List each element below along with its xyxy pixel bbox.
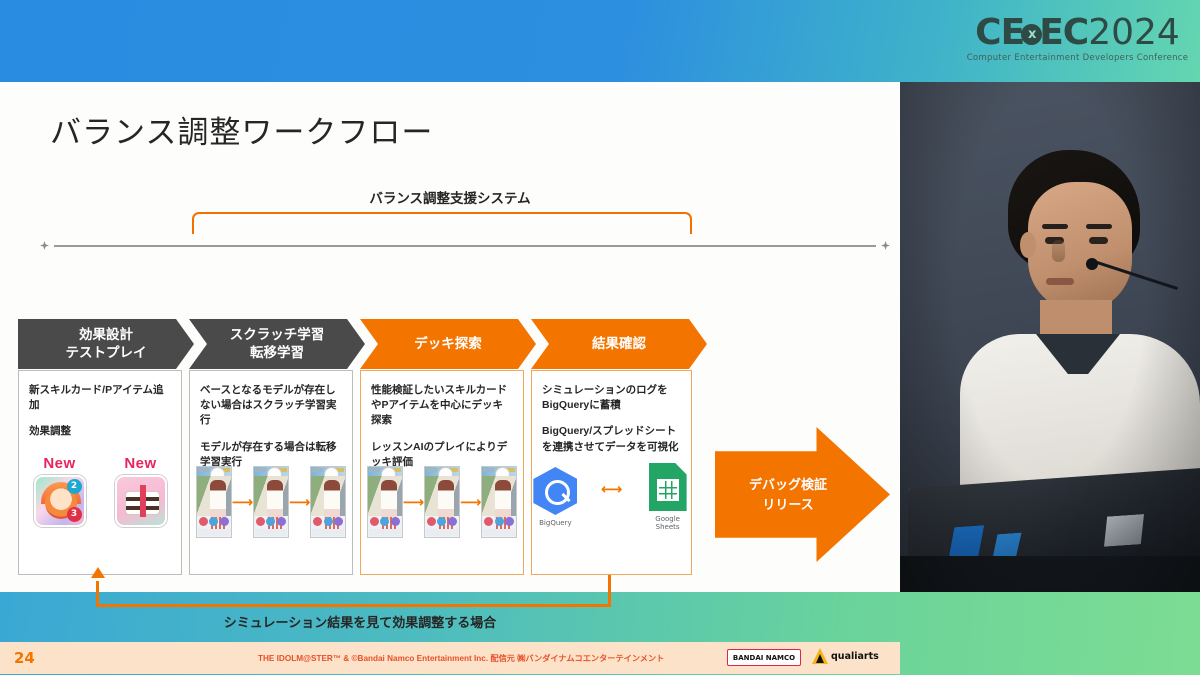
training-screenshot-strip: ⟶ ⟶ [196, 466, 346, 538]
cedec-x-icon: x [1021, 24, 1042, 45]
step-4-text-1: シミュレーションのログをBigQueryに蓄積 [542, 383, 681, 413]
ribbon-icon [140, 485, 146, 517]
diamond-left-icon [40, 241, 49, 250]
arrow-right-icon: ⟶ [460, 495, 482, 510]
slide: バランス調整ワークフロー バランス調整支援システム 効果設計 テストプレイ スク… [0, 82, 900, 592]
google-sheets-icon [649, 463, 687, 511]
step-header-3-line1: デッキ探索 [414, 335, 482, 353]
support-system-bracket [192, 212, 692, 234]
step-1-text-1: 新スキルカード/Pアイテム追加 [29, 383, 171, 413]
new-card-item: New [115, 455, 167, 527]
step-header-1-line2: テストプレイ [66, 344, 147, 362]
p-item-thumbnail [115, 475, 167, 527]
release-arrow: デバッグ検証 リリース [715, 427, 890, 562]
release-arrow-line2: リリース [762, 497, 813, 512]
game-screenshot [367, 466, 403, 538]
video-vignette [900, 82, 1200, 592]
divider-line [54, 245, 876, 247]
game-screenshot [310, 466, 346, 538]
step-body-1: 新スキルカード/Pアイテム追加 効果調整 New 2 3 New [18, 370, 182, 575]
speaker-video-feed [900, 82, 1200, 592]
support-system-label: バランス調整支援システム [300, 187, 600, 207]
feedback-loop-connector [96, 575, 611, 607]
qualiarts-wordmark: qualiarts [831, 651, 879, 662]
arrow-right-icon: ⟶ [403, 495, 425, 510]
cedec-logo: CExEC2024 Computer Entertainment Develop… [965, 8, 1190, 70]
step-header-4[interactable]: 結果確認 [531, 319, 707, 369]
new-card-idol: New 2 3 [34, 455, 86, 527]
bigquery-tool: BigQuery [532, 467, 579, 527]
new-card-row: New 2 3 New [19, 455, 181, 527]
deck-screenshot-strip: ⟶ ⟶ [367, 466, 517, 538]
workflow-step-bodies: 新スキルカード/Pアイテム追加 効果調整 New 2 3 New [18, 370, 692, 575]
step-header-4-line1: 結果確認 [592, 335, 646, 353]
page-number: 24 [14, 649, 35, 667]
game-screenshot [253, 466, 289, 538]
step-header-2[interactable]: スクラッチ学習 転移学習 [189, 319, 365, 369]
release-arrow-line1: デバッグ検証 [749, 477, 827, 492]
qualiarts-mark-icon [812, 648, 828, 664]
google-sheets-tool: Google Sheets [644, 463, 691, 531]
cedec-logo-wordmark: CExEC2024 [975, 15, 1180, 51]
title-divider [40, 245, 890, 247]
loop-arrowhead-icon [91, 567, 105, 578]
cedec-logo-ce: CE [975, 15, 1024, 51]
feedback-loop-label: シミュレーション結果を見て効果調整する場合 [150, 612, 570, 631]
bidirectional-arrow-icon: ⟷ [601, 480, 623, 498]
diamond-right-icon [881, 241, 890, 250]
bigquery-label: BigQuery [532, 519, 579, 527]
step-header-2-line1: スクラッチ学習 [230, 326, 325, 344]
page-title: バランス調整ワークフロー [50, 107, 433, 152]
step-header-2-line2: 転移学習 [230, 344, 325, 362]
copyright-text: THE IDOLM@STER™ & ©Bandai Namco Entertai… [258, 652, 664, 664]
bigquery-icon [533, 467, 577, 515]
step-body-2: ベースとなるモデルが存在しない場合はスクラッチ学習実行 モデルが存在する場合は転… [189, 370, 353, 575]
cedec-logo-tagline: Computer Entertainment Developers Confer… [967, 53, 1189, 63]
bandai-namco-logo: BANDAI NAMCO [727, 649, 801, 666]
new-badge-2: New [115, 455, 167, 472]
cedec-logo-year: 2024 [1088, 15, 1180, 51]
game-screenshot [481, 466, 517, 538]
qualiarts-logo: qualiarts [812, 648, 879, 664]
step-body-4: シミュレーションのログをBigQueryに蓄積 BigQuery/スプレッドシー… [531, 370, 692, 575]
step-3-text-1: 性能検証したいスキルカードやPアイテムを中心にデッキ探索 [371, 383, 513, 429]
new-badge-1: New [34, 455, 86, 472]
presentation-screen: CExEC2024 Computer Entertainment Develop… [0, 0, 1200, 675]
arrow-right-icon: ⟶ [232, 495, 254, 510]
slide-footer: 24 THE IDOLM@STER™ & ©Bandai Namco Enter… [0, 642, 900, 674]
game-screenshot [424, 466, 460, 538]
workflow-step-headers: 効果設計 テストプレイ スクラッチ学習 転移学習 デッキ探索 結果確認 [18, 319, 692, 369]
step-1-text-2: 効果調整 [29, 424, 171, 439]
step-header-1[interactable]: 効果設計 テストプレイ [18, 319, 194, 369]
card-rarity-badge: 3 [67, 507, 82, 522]
data-tools-row: BigQuery ⟷ Google Sheets [532, 463, 691, 531]
cedec-logo-ec: EC [1039, 15, 1088, 51]
card-level-badge: 2 [67, 479, 82, 494]
google-sheets-label: Google Sheets [644, 515, 691, 531]
skill-card-thumbnail: 2 3 [34, 475, 86, 527]
arrow-right-icon: ⟶ [289, 495, 311, 510]
step-body-3: 性能検証したいスキルカードやPアイテムを中心にデッキ探索 レッスンAIのプレイに… [360, 370, 524, 575]
step-header-1-line1: 効果設計 [66, 326, 147, 344]
game-screenshot [196, 466, 232, 538]
step-header-3[interactable]: デッキ探索 [360, 319, 536, 369]
step-4-text-2: BigQuery/スプレッドシートを連携させてデータを可視化 [542, 424, 681, 454]
step-2-text-1: ベースとなるモデルが存在しない場合はスクラッチ学習実行 [200, 383, 342, 429]
